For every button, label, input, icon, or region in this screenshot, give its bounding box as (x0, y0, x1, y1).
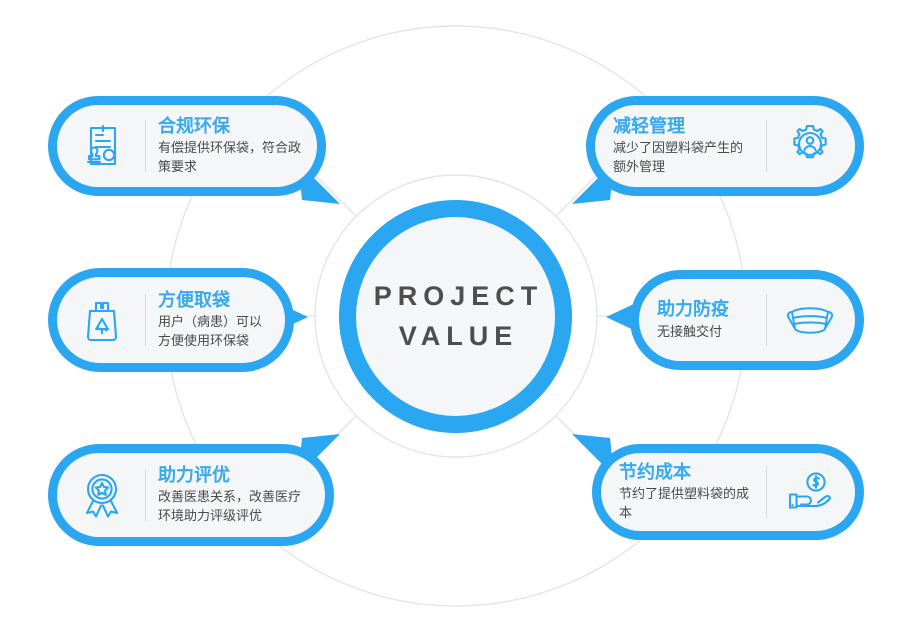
card-description: 有偿提供环保袋，符合政策要求 (158, 139, 301, 177)
card-description: 无接触交付 (657, 323, 754, 342)
card-divider (766, 294, 767, 346)
gear-person-icon (779, 123, 841, 169)
card-title: 助力评优 (158, 464, 309, 487)
value-card-compliance[interactable]: 合规环保 有偿提供环保袋，符合政策要求 (48, 96, 326, 196)
card-title: 减轻管理 (613, 115, 754, 138)
card-title: 方便取袋 (158, 289, 269, 312)
hand-coin-icon (779, 471, 841, 513)
card-description: 减少了因塑料袋产生的额外管理 (613, 139, 754, 177)
card-divider (145, 120, 146, 172)
center-hub: PROJECT VALUE (339, 200, 572, 433)
card-divider (766, 120, 767, 172)
face-mask-icon (779, 301, 841, 339)
card-description: 用户（病患）可以方便使用环保袋 (158, 313, 269, 351)
infographic-canvas: PROJECT VALUE 合规环保 有偿提供环保袋，符合政策要求 (0, 0, 913, 634)
card-title: 助力防疫 (657, 298, 754, 321)
card-divider (766, 466, 767, 518)
document-stamp-icon (71, 124, 133, 168)
card-description: 节约了提供塑料袋的成本 (619, 485, 754, 523)
value-card-bag[interactable]: 方便取袋 用户（病患）可以方便使用环保袋 (48, 268, 294, 372)
card-title: 节约成本 (619, 461, 754, 484)
value-card-manage[interactable]: 减轻管理 减少了因塑料袋产生的额外管理 (586, 96, 864, 196)
card-divider (145, 469, 146, 521)
hub-line-2: VALUE (368, 317, 544, 356)
value-card-cost[interactable]: 节约成本 节约了提供塑料袋的成本 (592, 444, 864, 540)
value-card-rating[interactable]: 助力评优 改善医患关系，改善医疗环境助力评级评优 (48, 444, 334, 546)
value-card-epidemic[interactable]: 助力防疫 无接触交付 (630, 270, 864, 370)
card-divider (145, 294, 146, 346)
hub-line-1: PROJECT (368, 277, 544, 316)
hub-label: PROJECT VALUE (368, 277, 544, 355)
card-title: 合规环保 (158, 115, 301, 138)
award-medal-icon (71, 472, 133, 518)
card-description: 改善医患关系，改善医疗环境助力评级评优 (158, 488, 309, 526)
recycle-bag-icon (71, 298, 133, 342)
